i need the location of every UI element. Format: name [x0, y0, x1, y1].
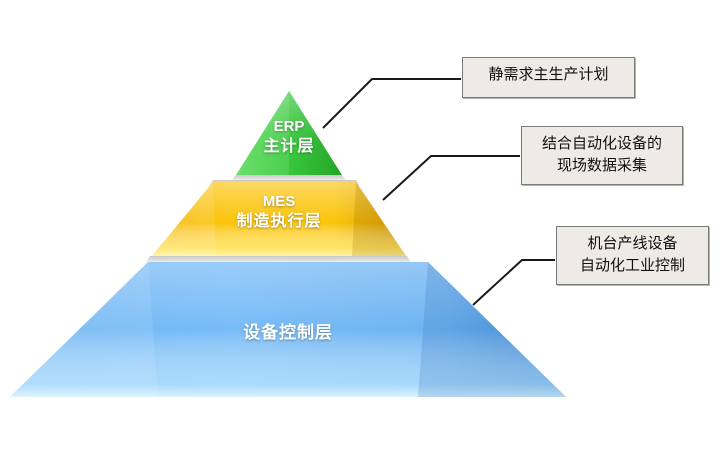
callout-box-mes[interactable]: 结合自动化设备的 现场数据采集 [521, 126, 683, 185]
callout-2-line1: 结合自动化设备的 [531, 133, 673, 155]
diagram-canvas: ERP 主计层 MES 制造执行层 设备控制层 静需求主生产计划 结合自动化设备… [0, 0, 720, 450]
callout-box-dcs[interactable]: 机台产线设备 自动化工业控制 [556, 226, 709, 285]
leader-line-2 [383, 156, 520, 200]
dcs-left-facet [10, 262, 158, 397]
mes-right-facet [352, 182, 406, 256]
pyramid-layer-dcs[interactable] [10, 256, 566, 397]
callout-3-line1: 机台产线设备 [566, 233, 699, 255]
callout-box-erp[interactable]: 静需求主生产计划 [462, 57, 635, 98]
callout-2-line2: 现场数据采集 [531, 155, 673, 177]
callout-3-line2: 自动化工业控制 [566, 255, 699, 277]
dcs-shadow-shelf [146, 256, 411, 262]
erp-triangle-left-facet [236, 91, 289, 175]
mes-left-facet [152, 182, 216, 256]
pyramid-layer-erp[interactable] [232, 91, 346, 180]
dcs-right-facet [418, 262, 566, 397]
erp-shadow-shelf [232, 175, 346, 180]
leader-line-1 [323, 79, 461, 128]
pyramid-layer-mes[interactable] [152, 180, 406, 256]
callout-1-line1: 静需求主生产计划 [472, 64, 625, 86]
leader-line-3 [473, 260, 555, 305]
